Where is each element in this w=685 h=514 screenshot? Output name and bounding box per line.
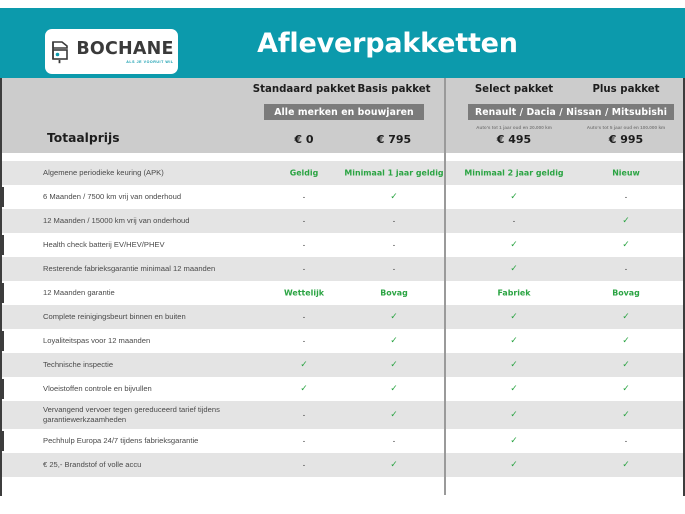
feature-value: ✓ — [454, 336, 574, 346]
feature-value: ✓ — [566, 460, 685, 470]
package-price-2: € 795 — [339, 133, 449, 146]
feature-label: Vervangend vervoer tegen gereduceerd tar… — [43, 405, 273, 426]
table-row: Technische inspectie✓✓✓✓ — [2, 353, 683, 377]
feature-label: Pechhulp Europa 24/7 tijdens fabrieksgar… — [43, 436, 198, 446]
table-row: 12 Maanden garantieWettelijkBovagFabriek… — [2, 281, 683, 305]
feature-value: ✓ — [566, 216, 685, 226]
table-header: Standaard pakketBasis pakketSelect pakke… — [2, 78, 683, 153]
feature-value: ✓ — [339, 384, 449, 394]
feature-value: - — [566, 193, 685, 202]
feature-value: ✓ — [454, 192, 574, 202]
logo-tagline: ALS JE VOORUIT WIL — [126, 61, 173, 65]
feature-label: Algemene periodieke keuring (APK) — [43, 168, 164, 178]
row-left-marker — [2, 283, 4, 303]
table-body: Algemene periodieke keuring (APK)GeldigM… — [2, 153, 683, 477]
feature-value: ✓ — [454, 240, 574, 250]
feature-label: € 25,- Brandstof of volle accu — [43, 460, 141, 470]
feature-value: ✓ — [339, 410, 449, 420]
row-left-marker — [2, 431, 4, 451]
feature-label: Resterende fabrieksgarantie minimaal 12 … — [43, 264, 215, 274]
total-price-label: Totaalprijs — [47, 131, 120, 145]
feature-value: ✓ — [339, 312, 449, 322]
table-row: Algemene periodieke keuring (APK)GeldigM… — [2, 161, 683, 185]
feature-value: - — [339, 241, 449, 250]
feature-value: ✓ — [454, 460, 574, 470]
table-row: Loyaliteitspas voor 12 maanden-✓✓✓ — [2, 329, 683, 353]
feature-value: - — [339, 437, 449, 446]
feature-value: Minimaal 2 jaar geldig — [454, 169, 574, 178]
package-name-3: Select pakket — [454, 84, 574, 95]
feature-label: Health check batterij EV/HEV/PHEV — [43, 240, 165, 250]
feature-value: ✓ — [454, 384, 574, 394]
row-spacer — [2, 153, 683, 161]
feature-value: - — [339, 265, 449, 274]
table-row: Resterende fabrieksgarantie minimaal 12 … — [2, 257, 683, 281]
feature-label: Loyaliteitspas voor 12 maanden — [43, 336, 150, 346]
row-left-marker — [2, 235, 4, 255]
feature-label: Technische inspectie — [43, 360, 113, 370]
feature-value: Nieuw — [566, 169, 685, 178]
feature-value: - — [566, 437, 685, 446]
feature-value: Bovag — [566, 289, 685, 298]
row-left-marker — [2, 331, 4, 351]
table-row: Vervangend vervoer tegen gereduceerd tar… — [2, 401, 683, 429]
feature-value: ✓ — [566, 360, 685, 370]
table-row: 6 Maanden / 7500 km vrij van onderhoud-✓… — [2, 185, 683, 209]
feature-value: - — [339, 217, 449, 226]
feature-value: ✓ — [566, 336, 685, 346]
afleverpakketten-sheet: Afleverpakketten BOCHANE ALS JE VOORUIT … — [0, 0, 685, 514]
package-note-4: Auto's tot 5 jaar oud en 100.000 km — [566, 125, 685, 130]
feature-value: ✓ — [454, 410, 574, 420]
feature-value: ✓ — [566, 384, 685, 394]
feature-label: 12 Maanden garantie — [43, 288, 115, 298]
table-row: Health check batterij EV/HEV/PHEV--✓✓ — [2, 233, 683, 257]
feature-value: ✓ — [566, 240, 685, 250]
bochane-logo: BOCHANE ALS JE VOORUIT WIL — [45, 29, 178, 74]
feature-value: Fabriek — [454, 289, 574, 298]
feature-label: 6 Maanden / 7500 km vrij van onderhoud — [43, 192, 181, 202]
feature-value: ✓ — [339, 360, 449, 370]
package-name-2: Basis pakket — [339, 84, 449, 95]
feature-value: ✓ — [339, 336, 449, 346]
row-left-marker — [2, 187, 4, 207]
table-row: Pechhulp Europa 24/7 tijdens fabrieksgar… — [2, 429, 683, 453]
feature-label: Complete reinigingsbeurt binnen en buite… — [43, 312, 186, 322]
package-price-3: € 495 — [454, 133, 574, 146]
feature-value: ✓ — [566, 410, 685, 420]
table-row: Vloeistoffen controle en bijvullen✓✓✓✓ — [2, 377, 683, 401]
feature-value: ✓ — [454, 264, 574, 274]
feature-value: - — [454, 217, 574, 226]
feature-value: ✓ — [339, 460, 449, 470]
feature-value: ✓ — [454, 360, 574, 370]
feature-label: 12 Maanden / 15000 km vrij van onderhoud — [43, 216, 190, 226]
feature-value: ✓ — [454, 436, 574, 446]
bochane-car-icon — [49, 39, 71, 65]
feature-value: ✓ — [566, 312, 685, 322]
packages-table: Standaard pakketBasis pakketSelect pakke… — [0, 78, 685, 496]
table-row: Complete reinigingsbeurt binnen en buite… — [2, 305, 683, 329]
feature-value: ✓ — [454, 312, 574, 322]
table-row: 12 Maanden / 15000 km vrij van onderhoud… — [2, 209, 683, 233]
feature-value: Minimaal 1 jaar geldig — [339, 169, 449, 178]
group-band-1: Alle merken en bouwjaren — [264, 104, 424, 120]
table-footer-space — [2, 477, 683, 503]
feature-value: Bovag — [339, 289, 449, 298]
feature-value: ✓ — [339, 192, 449, 202]
group-band-2: Renault / Dacia / Nissan / Mitsubishi — [468, 104, 674, 120]
page-header: Afleverpakketten BOCHANE ALS JE VOORUIT … — [0, 8, 685, 78]
table-row: € 25,- Brandstof of volle accu-✓✓✓ — [2, 453, 683, 477]
feature-label: Vloeistoffen controle en bijvullen — [43, 384, 152, 394]
row-left-marker — [2, 379, 4, 399]
package-name-4: Plus pakket — [566, 84, 685, 95]
package-price-4: € 995 — [566, 133, 685, 146]
logo-wordmark: BOCHANE — [76, 41, 173, 59]
package-note-3: Auto's tot 1 jaar oud en 20.000 km — [454, 125, 574, 130]
column-group-divider — [444, 78, 446, 495]
feature-value: - — [566, 265, 685, 274]
